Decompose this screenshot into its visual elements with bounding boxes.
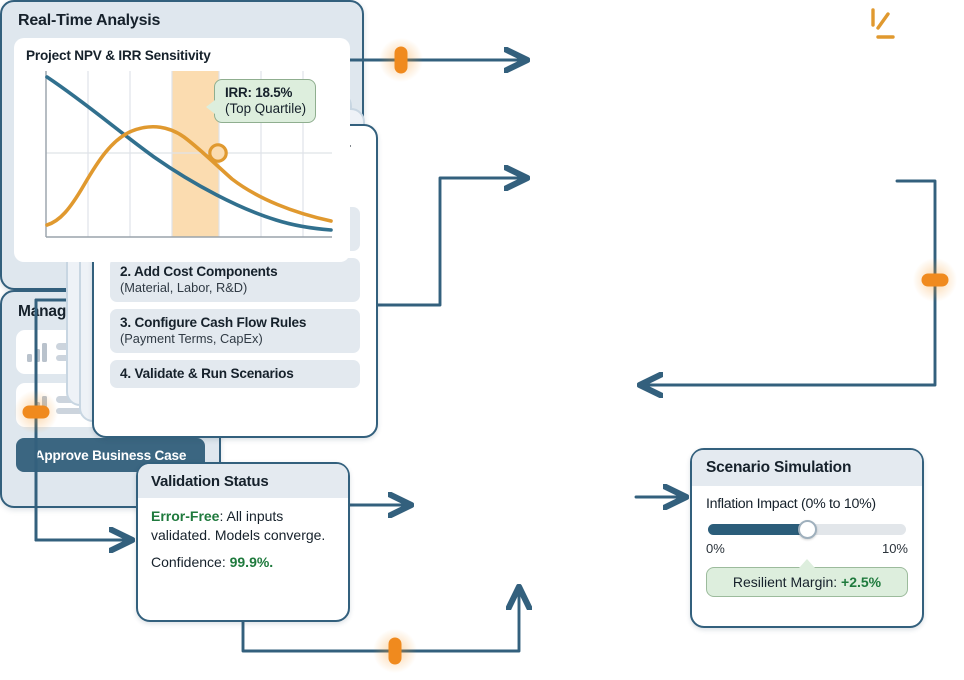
- wire-analysis-to-dashboard: [642, 181, 935, 385]
- scenario-simulation-panel: Scenario Simulation Inflation Impact (0%…: [690, 448, 924, 628]
- builder-step-3[interactable]: 3. Configure Cash Flow Rules (Payment Te…: [110, 309, 360, 353]
- npv-irr-plot: IRR: 18.5% (Top Quartile): [26, 69, 338, 255]
- confidence-label: Confidence:: [151, 554, 230, 570]
- resilient-margin-label: Resilient Margin:: [733, 574, 841, 590]
- slider-fill: [708, 524, 807, 535]
- callout-tail: [799, 559, 815, 568]
- inflation-impact-label: Inflation Impact (0% to 10%): [706, 496, 908, 512]
- node-bottom[interactable]: [380, 636, 410, 666]
- resilient-margin-value: +2.5%: [841, 574, 881, 590]
- npv-irr-chart-card: Project NPV & IRR Sensitivity: [14, 38, 350, 262]
- validation-status-panel: Validation Status Error-Free: All inputs…: [136, 462, 350, 622]
- irr-tooltip-value: IRR: 18.5%: [225, 85, 306, 100]
- irr-marker: [210, 144, 226, 160]
- real-time-analysis-panel: Real-Time Analysis Project NPV & IRR Sen…: [0, 0, 364, 290]
- builder-step-4-title: 4. Validate & Run Scenarios: [120, 366, 350, 381]
- chart-title: Project NPV & IRR Sensitivity: [26, 48, 338, 63]
- scenario-simulation-title: Scenario Simulation: [692, 450, 922, 486]
- wire-builder-to-analysis-mid: [378, 178, 525, 305]
- diagram-canvas: Guided Financial Model Builder Steps you…: [0, 0, 964, 680]
- sparkle-icon: [862, 4, 912, 56]
- validation-status-badge: Error-Free: [151, 508, 219, 524]
- slider-knob[interactable]: [798, 520, 817, 539]
- irr-tooltip: IRR: 18.5% (Top Quartile): [214, 79, 316, 123]
- confidence-value: 99.9%.: [230, 554, 274, 570]
- node-top[interactable]: [386, 45, 416, 75]
- builder-step-2[interactable]: 2. Add Cost Components (Material, Labor,…: [110, 258, 360, 302]
- builder-step-3-detail: (Payment Terms, CapEx): [120, 331, 350, 346]
- builder-step-2-detail: (Material, Labor, R&D): [120, 280, 350, 295]
- node-left[interactable]: [21, 397, 51, 427]
- irr-tooltip-note: (Top Quartile): [225, 101, 306, 116]
- slider-min-label: 0%: [706, 541, 725, 556]
- builder-step-4[interactable]: 4. Validate & Run Scenarios: [110, 360, 360, 388]
- node-right[interactable]: [920, 265, 950, 295]
- confidence-line: Confidence: 99.9%.: [151, 554, 335, 570]
- tooltip-tail: [206, 100, 215, 114]
- slider-max-label: 10%: [882, 541, 908, 556]
- resilient-margin-callout: Resilient Margin: +2.5%: [706, 567, 908, 597]
- validation-message: Error-Free: All inputs validated. Models…: [151, 507, 335, 544]
- inflation-impact-slider[interactable]: [708, 524, 906, 535]
- builder-step-3-title: 3. Configure Cash Flow Rules: [120, 315, 350, 330]
- builder-step-2-title: 2. Add Cost Components: [120, 264, 350, 279]
- validation-status-title: Validation Status: [138, 464, 348, 498]
